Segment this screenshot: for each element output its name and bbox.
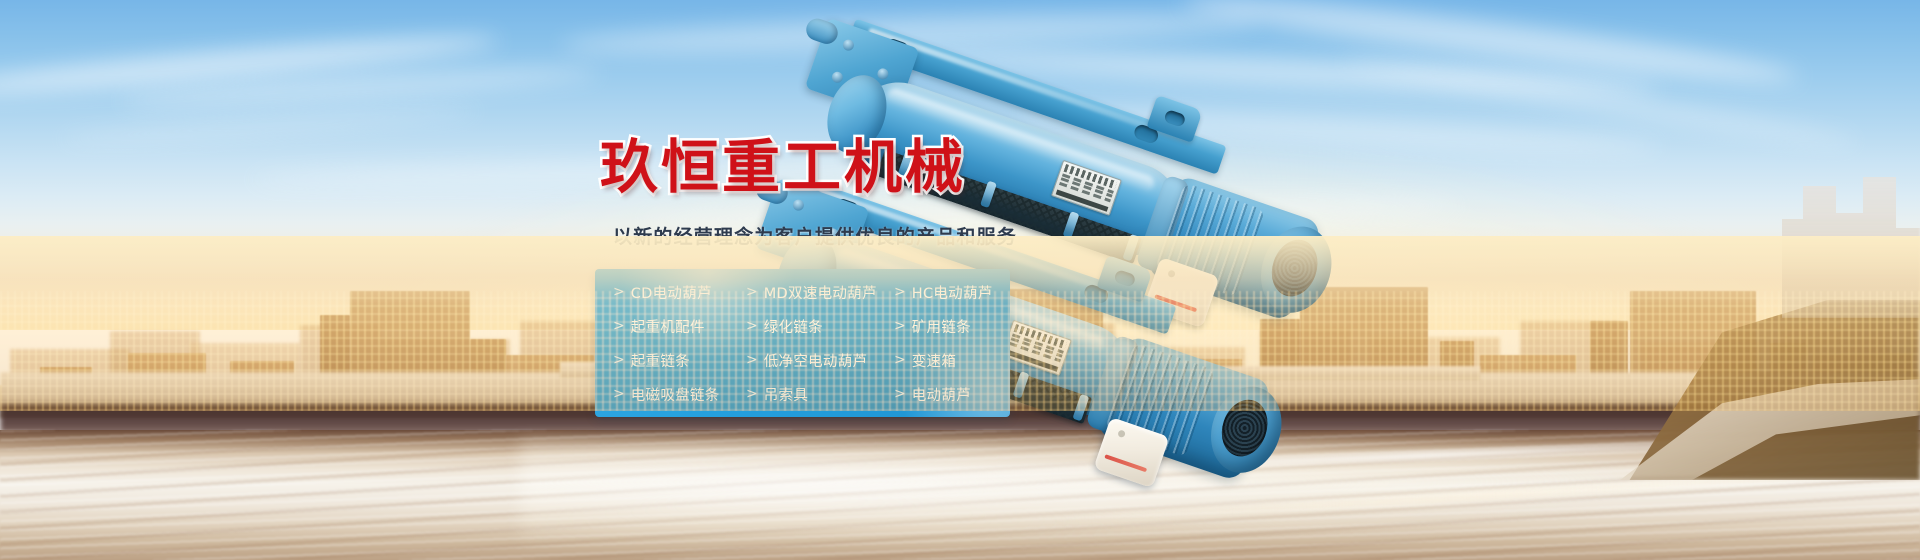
hero-banner: 玖恒重工机械 以新的经营理念为客户提供优良的产品和服务 > CD电动葫芦 > M…	[0, 0, 1920, 560]
city-skyline	[0, 236, 1920, 411]
city-lights	[0, 291, 1920, 411]
horizon-haze	[0, 236, 1920, 306]
banner-title: 玖恒重工机械	[600, 138, 966, 196]
